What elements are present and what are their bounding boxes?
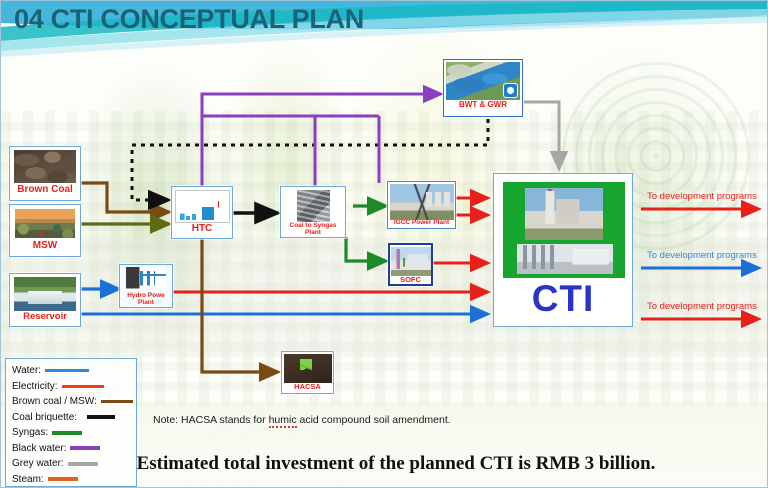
hydro-plant-icon bbox=[126, 267, 166, 292]
cti-plant-photos bbox=[503, 182, 625, 278]
node-htc[interactable]: HTC bbox=[171, 186, 233, 239]
recycle-badge-icon bbox=[503, 83, 518, 98]
node-hydro-power-plant-label: Hydro Powe Plant bbox=[120, 293, 172, 307]
legend-label-electricity: Electricity: bbox=[12, 381, 58, 392]
node-bwt-gwr-label: BWT & GWR bbox=[444, 101, 522, 109]
node-hacsa[interactable]: HACSA bbox=[281, 351, 334, 394]
slide-canvas: 04 CTI CONCEPTUAL PLAN bbox=[0, 0, 768, 488]
node-igcc-power-plant[interactable]: IGCC Power Plant bbox=[387, 181, 456, 229]
node-hydro-power-plant[interactable]: Hydro Powe Plant bbox=[119, 264, 173, 308]
seedling-soil-photo bbox=[284, 354, 332, 383]
dam-photo bbox=[14, 277, 76, 311]
node-coal-to-syngas-plant[interactable]: Coal to Syngas Plant bbox=[280, 186, 346, 238]
legend-label-syngas: Syngas: bbox=[12, 427, 48, 438]
note-prefix: Note: HACSA stands for bbox=[153, 414, 269, 426]
output-label-2: To development programs bbox=[647, 250, 757, 261]
syngas-plant-photo bbox=[297, 190, 330, 222]
cti-photo-upper bbox=[525, 188, 603, 240]
legend-item-syngas: Syngas: bbox=[12, 425, 136, 441]
investment-statement: Estimated total investment of the planne… bbox=[1, 453, 767, 475]
legend-swatch-steam bbox=[48, 477, 78, 481]
legend-swatch-syngas bbox=[52, 431, 82, 435]
node-sofc-label: SOFC bbox=[390, 276, 431, 284]
legend-label-coal-briquette: Coal briquette: bbox=[12, 412, 77, 423]
brown-coal-photo bbox=[14, 150, 76, 183]
node-igcc-power-plant-label: IGCC Power Plant bbox=[390, 220, 453, 227]
node-coal-to-syngas-plant-label: Coal to Syngas Plant bbox=[281, 223, 345, 237]
node-reservoir[interactable]: Reservoir bbox=[9, 273, 81, 327]
legend-item-coal-briquette: Coal briquette: bbox=[12, 410, 136, 426]
sofc-building-photo bbox=[391, 247, 431, 276]
output-label-1: To development programs bbox=[647, 191, 757, 202]
node-cti[interactable]: CTI bbox=[493, 173, 633, 327]
note-text: Note: HACSA stands for humic acid compou… bbox=[153, 414, 451, 426]
water-treatment-aerial-photo bbox=[446, 62, 520, 100]
legend-label-brown-coal-msw: Brown coal / MSW: bbox=[12, 396, 97, 407]
node-hacsa-label: HACSA bbox=[282, 383, 333, 391]
landfill-photo bbox=[15, 209, 75, 238]
legend-item-brown-coal-msw: Brown coal / MSW: bbox=[12, 394, 136, 410]
legend-swatch-black-water bbox=[70, 446, 100, 450]
node-bwt-gwr[interactable]: BWT & GWR bbox=[443, 59, 523, 117]
output-label-3: To development programs bbox=[647, 301, 757, 312]
legend-label-water: Water: bbox=[12, 365, 41, 376]
note-term: humic bbox=[269, 414, 297, 428]
node-htc-label: HTC bbox=[172, 224, 232, 235]
node-brown-coal-label: Brown Coal bbox=[10, 185, 80, 196]
legend-label-steam: Steam: bbox=[12, 474, 44, 485]
node-sofc[interactable]: SOFC bbox=[388, 243, 433, 286]
legend-swatch-brown-coal-msw bbox=[101, 400, 133, 403]
legend-swatch-coal-briquette bbox=[87, 415, 115, 419]
legend-swatch-electricity bbox=[62, 385, 104, 388]
node-msw[interactable]: MSW bbox=[9, 204, 81, 257]
legend-item-water: Water: bbox=[12, 363, 136, 379]
node-cti-label: CTI bbox=[494, 278, 632, 320]
igcc-plant-photo bbox=[390, 184, 454, 220]
legend-swatch-water bbox=[45, 369, 89, 372]
node-brown-coal[interactable]: Brown Coal bbox=[9, 146, 81, 201]
htc-chart-graphic bbox=[175, 190, 230, 223]
cti-photo-lower bbox=[517, 244, 613, 274]
note-suffix: acid compound soil amendment. bbox=[297, 414, 451, 426]
node-reservoir-label: Reservoir bbox=[10, 312, 80, 322]
node-msw-label: MSW bbox=[10, 241, 80, 252]
legend-item-electricity: Electricity: bbox=[12, 379, 136, 395]
